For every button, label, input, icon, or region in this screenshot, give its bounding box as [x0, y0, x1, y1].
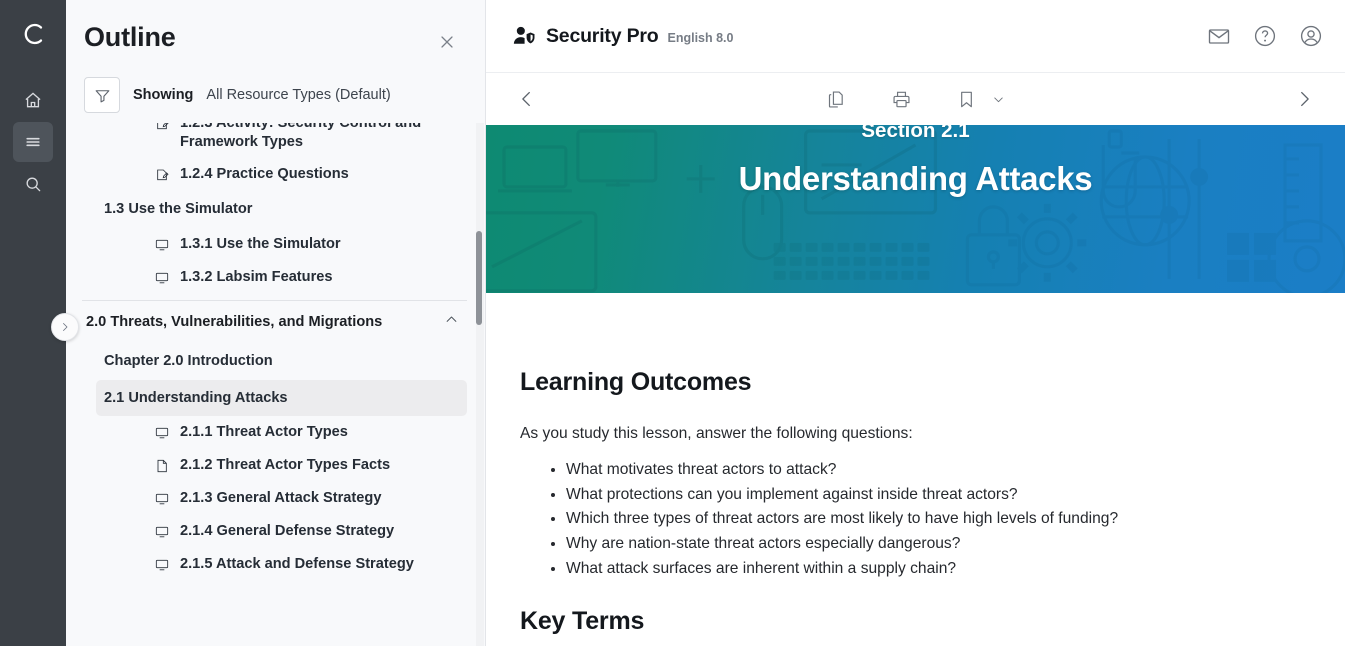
- outline-header: Outline: [66, 0, 485, 61]
- app-logo[interactable]: [13, 14, 53, 54]
- learning-outcomes-list: What motivates threat actors to attack? …: [520, 458, 1311, 581]
- list-item[interactable]: 1.2.3 Activity: Security Control and Fra…: [146, 123, 467, 158]
- video-icon: [154, 557, 170, 574]
- previous-page-button[interactable]: [516, 88, 538, 110]
- chevron-right-icon: [1293, 88, 1315, 110]
- banner-pattern-icon: [486, 125, 1345, 293]
- video-icon: [154, 270, 170, 287]
- lesson-toolbar: [486, 73, 1345, 125]
- list-item-label: 1.2.4 Practice Questions: [180, 165, 349, 184]
- filter-row: Showing All Resource Types (Default): [66, 61, 485, 123]
- list-item[interactable]: 2.1.3 General Attack Strategy: [146, 482, 467, 515]
- list-item-label: Chapter 2.0 Introduction: [104, 352, 273, 371]
- list-item[interactable]: Chapter 2.0 Introduction: [96, 343, 467, 380]
- brand: Security Pro English 8.0: [512, 25, 733, 48]
- outline-title: Outline: [84, 22, 176, 53]
- filter-icon: [93, 86, 112, 105]
- learning-outcomes-heading: Learning Outcomes: [520, 368, 1311, 397]
- list-item: Which three types of threat actors are m…: [566, 507, 1311, 531]
- filter-showing-label: Showing: [133, 87, 193, 103]
- lesson-intro: As you study this lesson, answer the fol…: [520, 425, 1311, 443]
- app-root: Outline Showing All Resource Types (Defa…: [0, 0, 1345, 646]
- video-icon: [154, 491, 170, 508]
- list-item: Why are nation-state threat actors espec…: [566, 532, 1311, 556]
- print-icon[interactable]: [891, 89, 912, 110]
- app-header: Security Pro English 8.0: [486, 0, 1345, 73]
- bookmark-icon[interactable]: [956, 89, 977, 110]
- list-item[interactable]: 1.3.1 Use the Simulator: [146, 228, 467, 261]
- lesson-banner: Section 2.1 Understanding Attacks: [486, 125, 1345, 293]
- filter-button[interactable]: [84, 77, 120, 113]
- list-item-label: 2.1.1 Threat Actor Types: [180, 423, 348, 442]
- outline-panel: Outline Showing All Resource Types (Defa…: [66, 0, 486, 646]
- rail-item-outline[interactable]: [13, 122, 53, 162]
- list-item: What attack surfaces are inherent within…: [566, 557, 1311, 581]
- next-page-button[interactable]: [1293, 88, 1315, 110]
- chevron-down-icon[interactable]: [991, 92, 1006, 107]
- left-nav-rail: [0, 0, 66, 646]
- expand-panel-button[interactable]: [51, 313, 79, 341]
- activity-icon: [154, 123, 170, 133]
- header-icon-group: [1207, 24, 1323, 48]
- chapter-label: 2.0 Threats, Vulnerabilities, and Migrat…: [86, 314, 382, 330]
- home-icon: [23, 90, 43, 110]
- doc-icon: [154, 458, 170, 475]
- outline-scrollbar-thumb[interactable]: [476, 231, 482, 325]
- user-shield-icon: [512, 25, 537, 47]
- list-item[interactable]: 2.1.2 Threat Actor Types Facts: [146, 449, 467, 482]
- chevron-up-icon[interactable]: [444, 312, 459, 332]
- lesson-content: Learning Outcomes As you study this less…: [486, 293, 1345, 646]
- outline-list: 1.2.3 Activity: Security Control and Fra…: [74, 123, 485, 581]
- list-item: What protections can you implement again…: [566, 483, 1311, 507]
- list-item-label: 1.3 Use the Simulator: [104, 200, 252, 219]
- brand-name: Security Pro: [546, 25, 658, 48]
- video-icon: [154, 425, 170, 442]
- close-outline-button[interactable]: [433, 28, 461, 61]
- list-item-selected[interactable]: 2.1 Understanding Attacks: [96, 380, 467, 417]
- account-circle-icon[interactable]: [1299, 24, 1323, 48]
- chevron-left-icon: [516, 88, 538, 110]
- outline-scroll-area: 1.2.3 Activity: Security Control and Fra…: [66, 123, 485, 646]
- main-pane: Security Pro English 8.0: [486, 0, 1345, 646]
- list-item-label: 2.1.4 General Defense Strategy: [180, 522, 394, 541]
- list-item-label: 2.1.3 General Attack Strategy: [180, 489, 381, 508]
- chapter-header-2[interactable]: 2.0 Threats, Vulnerabilities, and Migrat…: [78, 301, 467, 343]
- mail-icon[interactable]: [1207, 24, 1231, 48]
- activity-icon: [154, 167, 170, 184]
- list-item-label: 2.1.5 Attack and Defense Strategy: [180, 555, 414, 574]
- help-circle-icon[interactable]: [1253, 24, 1277, 48]
- close-icon: [437, 32, 457, 52]
- list-item-label: 1.2.3 Activity: Security Control and Fra…: [180, 123, 459, 151]
- list-item[interactable]: 2.1.4 General Defense Strategy: [146, 515, 467, 548]
- banner-section-label: Section 2.1: [861, 125, 969, 143]
- search-icon: [23, 174, 43, 194]
- list-item-label: 1.3.2 Labsim Features: [180, 268, 333, 287]
- list-item[interactable]: 1.3 Use the Simulator: [96, 191, 467, 228]
- menu-icon: [23, 132, 43, 152]
- rail-item-home[interactable]: [13, 80, 53, 120]
- video-icon: [154, 524, 170, 541]
- list-item[interactable]: 1.2.4 Practice Questions: [146, 158, 467, 191]
- outline-scrollbar-track[interactable]: [476, 123, 484, 646]
- list-item[interactable]: 2.1.1 Threat Actor Types: [146, 416, 467, 449]
- copy-icon[interactable]: [826, 89, 847, 110]
- video-icon: [154, 237, 170, 254]
- rail-item-search[interactable]: [13, 164, 53, 204]
- list-item-label: 2.1 Understanding Attacks: [104, 389, 288, 408]
- key-terms-heading: Key Terms: [520, 607, 1311, 636]
- list-item[interactable]: 1.3.2 Labsim Features: [146, 261, 467, 294]
- filter-selected-value[interactable]: All Resource Types (Default): [206, 87, 390, 103]
- brand-version: English 8.0: [667, 31, 733, 45]
- list-item-label: 2.1.2 Threat Actor Types Facts: [180, 456, 390, 475]
- chevron-right-icon: [59, 321, 71, 333]
- list-item: What motivates threat actors to attack?: [566, 458, 1311, 482]
- list-item[interactable]: 2.1.5 Attack and Defense Strategy: [146, 548, 467, 581]
- toolbar-center-group: [486, 89, 1345, 110]
- list-item-label: 1.3.1 Use the Simulator: [180, 235, 341, 254]
- banner-title: Understanding Attacks: [739, 160, 1093, 198]
